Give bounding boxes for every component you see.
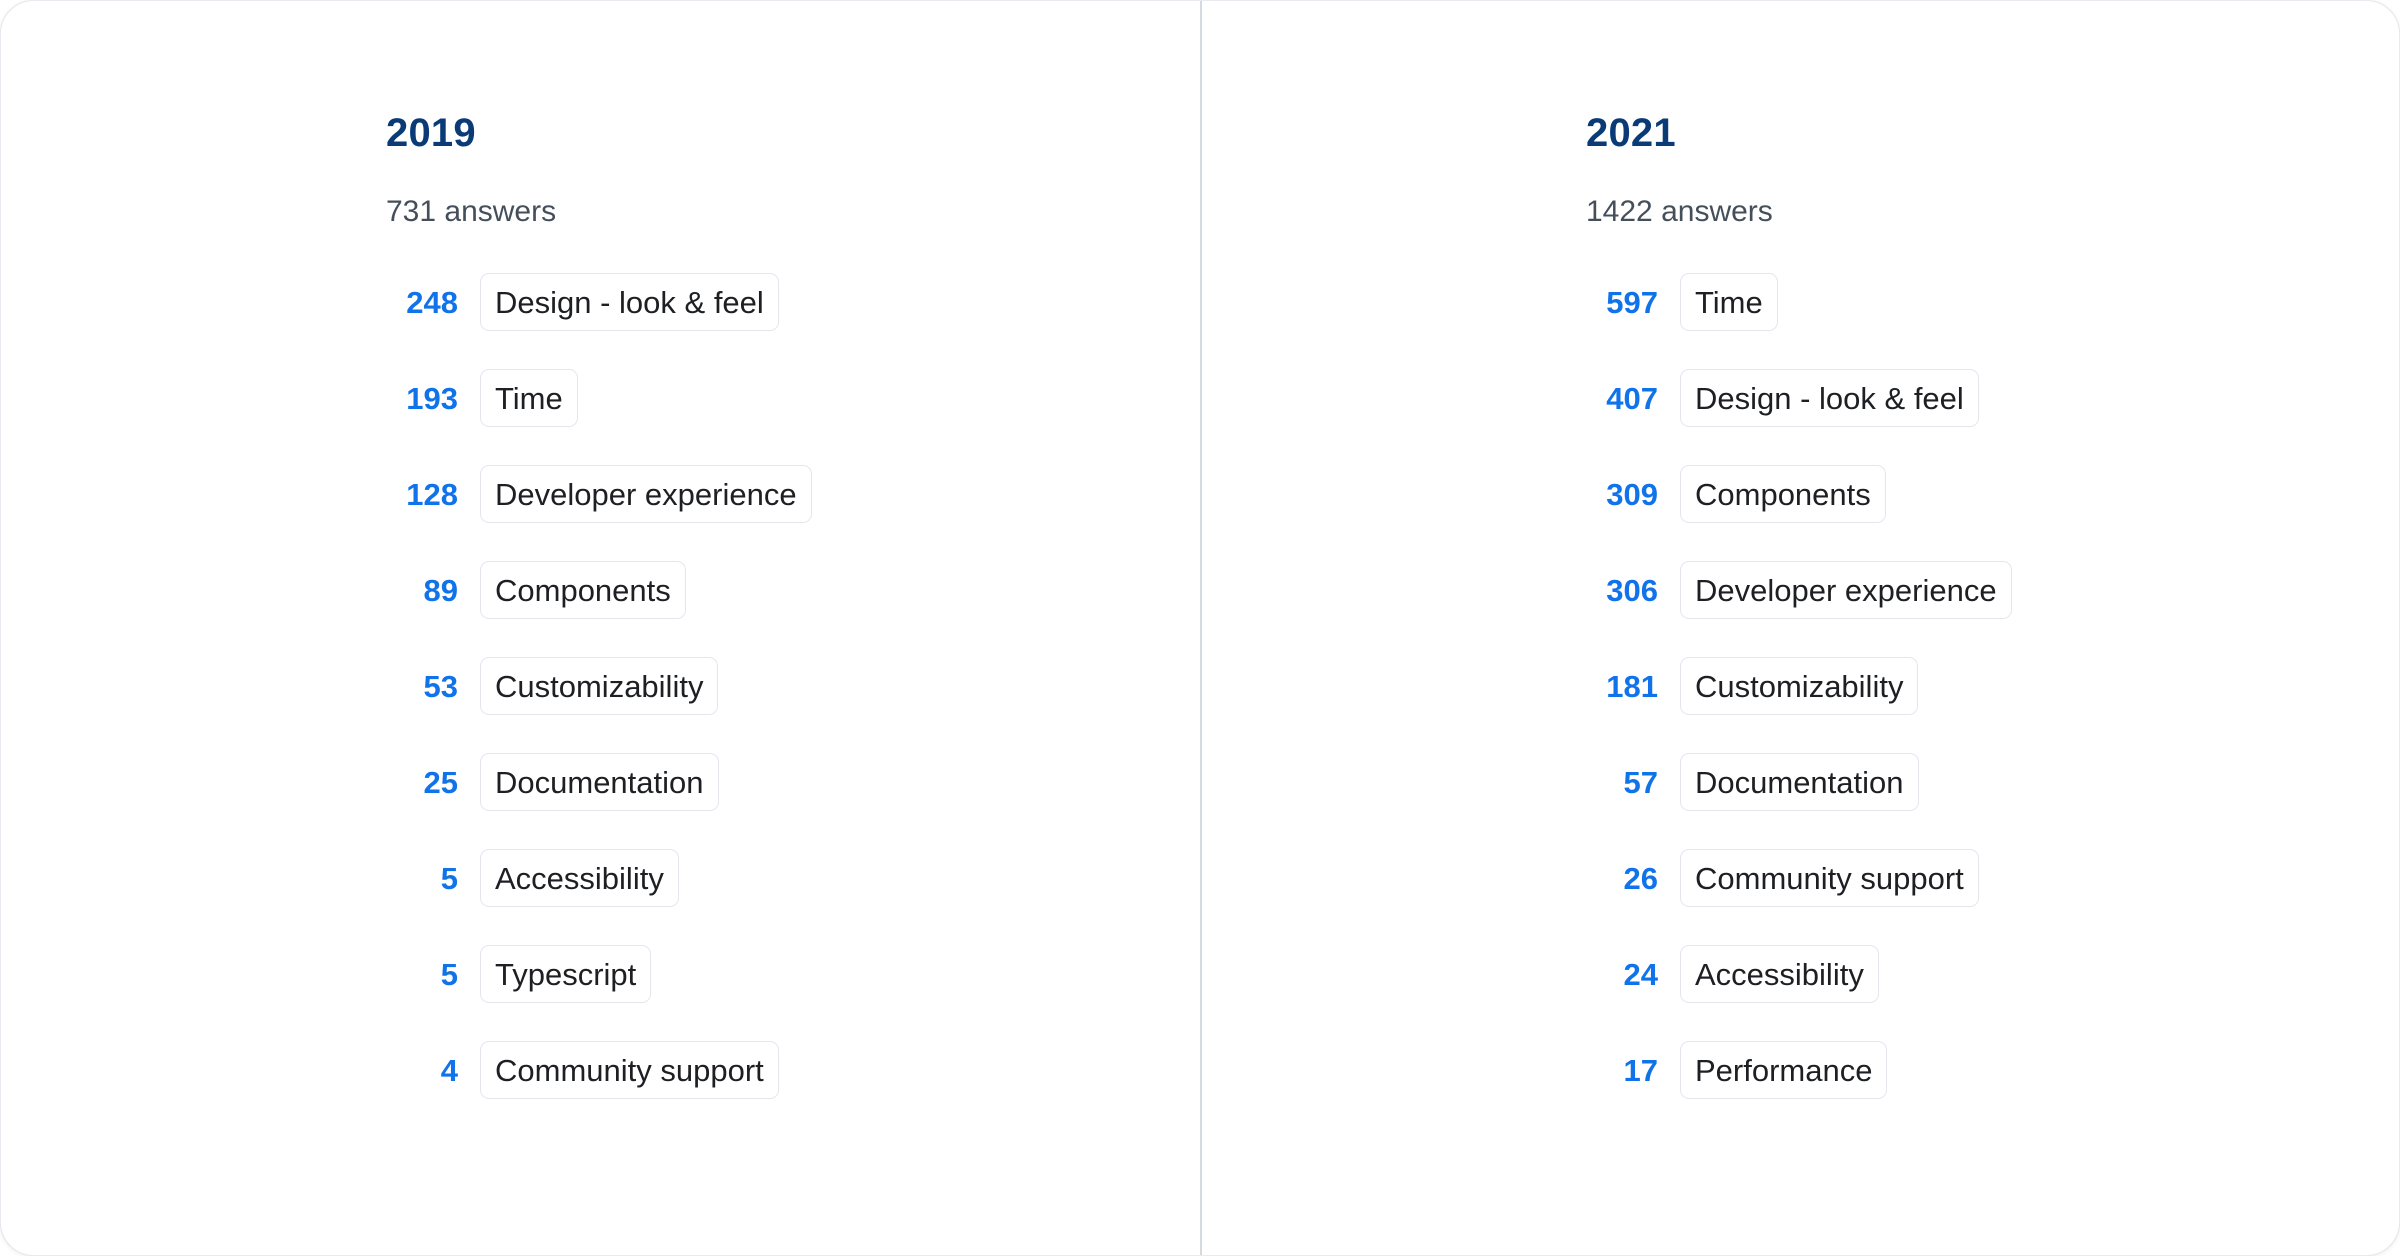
- result-row: 407Design - look & feel: [1586, 367, 2400, 429]
- result-label-pill[interactable]: Time: [1680, 273, 1778, 331]
- result-count: 24: [1586, 959, 1658, 990]
- result-row: 193Time: [386, 367, 1206, 429]
- panel-2021: 2021 1422 answers 597Time407Design - loo…: [1201, 1, 2400, 1255]
- result-row: 128Developer experience: [386, 463, 1206, 525]
- result-count: 193: [386, 383, 458, 414]
- result-row: 5Accessibility: [386, 847, 1206, 909]
- result-count: 128: [386, 479, 458, 510]
- result-label-pill[interactable]: Accessibility: [480, 849, 679, 907]
- result-count: 309: [1586, 479, 1658, 510]
- answers-count-2019: 731 answers: [386, 197, 556, 227]
- result-label-pill[interactable]: Developer experience: [480, 465, 812, 523]
- result-label-pill[interactable]: Customizability: [1680, 657, 1918, 715]
- result-count: 407: [1586, 383, 1658, 414]
- result-count: 248: [386, 287, 458, 318]
- result-row: 309Components: [1586, 463, 2400, 525]
- result-count: 5: [386, 959, 458, 990]
- result-row: 53Customizability: [386, 655, 1206, 717]
- result-label-pill[interactable]: Developer experience: [1680, 561, 2012, 619]
- result-label-pill[interactable]: Design - look & feel: [1680, 369, 1979, 427]
- result-row: 597Time: [1586, 271, 2400, 333]
- result-label-pill[interactable]: Customizability: [480, 657, 718, 715]
- result-label-pill[interactable]: Design - look & feel: [480, 273, 779, 331]
- result-count: 4: [386, 1055, 458, 1086]
- page-title-2019: 2019: [386, 113, 476, 153]
- result-label-pill[interactable]: Time: [480, 369, 578, 427]
- result-label-pill[interactable]: Community support: [480, 1041, 779, 1099]
- result-row: 24Accessibility: [1586, 943, 2400, 1005]
- result-list-2021: 597Time407Design - look & feel309Compone…: [1586, 271, 2400, 1101]
- result-row: 17Performance: [1586, 1039, 2400, 1101]
- comparison-card: 2019 731 answers 248Design - look & feel…: [0, 0, 2400, 1256]
- page-title-2021: 2021: [1586, 113, 1676, 153]
- result-row: 25Documentation: [386, 751, 1206, 813]
- result-row: 248Design - look & feel: [386, 271, 1206, 333]
- result-label-pill[interactable]: Documentation: [480, 753, 719, 811]
- result-label-pill[interactable]: Accessibility: [1680, 945, 1879, 1003]
- result-row: 4Community support: [386, 1039, 1206, 1101]
- result-row: 5Typescript: [386, 943, 1206, 1005]
- result-row: 181Customizability: [1586, 655, 2400, 717]
- panel-2019: 2019 731 answers 248Design - look & feel…: [1, 1, 1201, 1255]
- result-count: 26: [1586, 863, 1658, 894]
- result-count: 597: [1586, 287, 1658, 318]
- result-row: 306Developer experience: [1586, 559, 2400, 621]
- result-count: 181: [1586, 671, 1658, 702]
- result-label-pill[interactable]: Community support: [1680, 849, 1979, 907]
- result-label-pill[interactable]: Components: [480, 561, 686, 619]
- result-label-pill[interactable]: Performance: [1680, 1041, 1887, 1099]
- result-label-pill[interactable]: Components: [1680, 465, 1886, 523]
- result-count: 306: [1586, 575, 1658, 606]
- result-row: 26Community support: [1586, 847, 2400, 909]
- result-count: 25: [386, 767, 458, 798]
- result-count: 57: [1586, 767, 1658, 798]
- result-label-pill[interactable]: Documentation: [1680, 753, 1919, 811]
- result-row: 57Documentation: [1586, 751, 2400, 813]
- result-list-2019: 248Design - look & feel193Time128Develop…: [386, 271, 1206, 1101]
- result-count: 53: [386, 671, 458, 702]
- result-count: 89: [386, 575, 458, 606]
- answers-count-2021: 1422 answers: [1586, 197, 1773, 227]
- result-row: 89Components: [386, 559, 1206, 621]
- result-label-pill[interactable]: Typescript: [480, 945, 651, 1003]
- result-count: 5: [386, 863, 458, 894]
- result-count: 17: [1586, 1055, 1658, 1086]
